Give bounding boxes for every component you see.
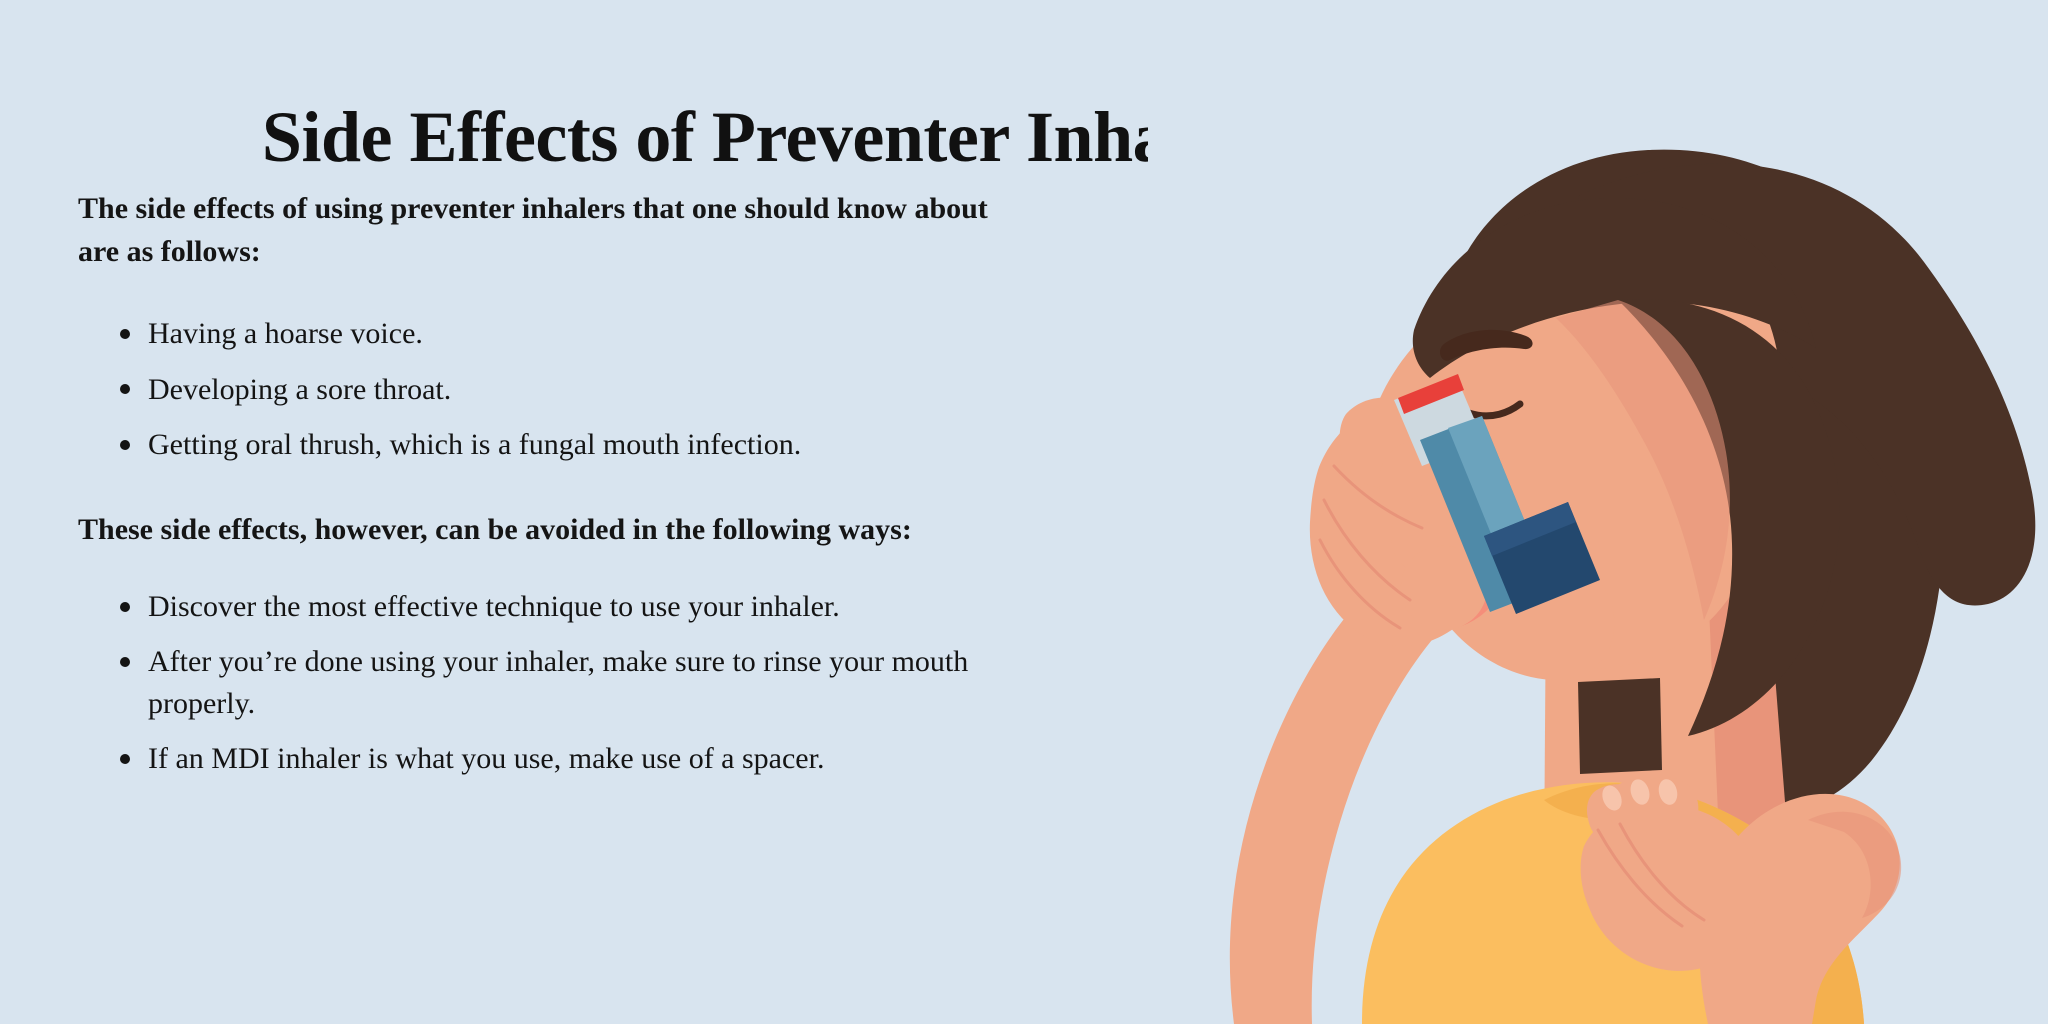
list-item: Having a hoarse voice.: [120, 313, 1048, 354]
list-item: Discover the most effective technique to…: [120, 586, 1048, 627]
inhaler-arm-shape: [1230, 570, 1444, 1024]
throat-hand-finger-1: [1587, 784, 1649, 845]
open-mouth-shape: [1388, 556, 1506, 601]
inhaler-mouthpiece-face: [1484, 502, 1576, 556]
infographic-canvas: Side Effects of Preventer Inhalers The s…: [0, 0, 2048, 1024]
avoidance-list: Discover the most effective technique to…: [78, 586, 1058, 780]
inhaler-mouthpiece-shape: [1484, 502, 1600, 614]
bullet-dot-icon: [120, 384, 130, 394]
inhaler-hand-shape: [1310, 400, 1511, 646]
inhaler-finger-3: [1401, 546, 1487, 630]
list-item: Developing a sore throat.: [120, 369, 1048, 410]
inhaler-body-highlight: [1448, 416, 1552, 600]
neck-front-shape: [1544, 584, 1720, 864]
hair-fringe-shape: [1413, 198, 1816, 378]
upper-lip-shape: [1384, 542, 1506, 562]
shirt-shadow-shape: [1648, 790, 1864, 1024]
eyebrow-shape: [1440, 330, 1533, 361]
inhaler-thumb-shape: [1340, 398, 1430, 488]
face-shape: [1365, 218, 1782, 669]
nose-shape: [1382, 452, 1406, 489]
face-shadow-shape: [1556, 300, 1730, 620]
closed-eye-shape: [1440, 392, 1520, 416]
throat-hand-finger-3: [1635, 777, 1698, 840]
throat-hand-finger-2: [1609, 779, 1672, 842]
throat-arm-shadow: [1808, 812, 1901, 918]
bullet-dot-icon: [120, 440, 130, 450]
shirt-collar-shape: [1544, 783, 1682, 820]
list-item-label: Developing a sore throat.: [148, 373, 451, 406]
neck-shape: [1568, 586, 1788, 856]
throat-arm-shape: [1700, 794, 1900, 1024]
list-item-label: If an MDI inhaler is what you use, make …: [148, 742, 824, 775]
list-item-label: Discover the most effective technique to…: [148, 590, 840, 623]
nostril-shape: [1396, 486, 1424, 497]
hair-sweep-shape: [1578, 164, 2035, 606]
inhaler-red-stripe: [1398, 374, 1464, 414]
list-item-label: Getting oral thrush, which is a fungal m…: [148, 428, 801, 461]
list-item-label: Having a hoarse voice.: [148, 317, 423, 350]
hair-side-shape: [1618, 299, 1840, 736]
jaw-shape: [1387, 507, 1614, 680]
bullet-dot-icon: [120, 657, 130, 667]
page-title: Side Effects of Preventer Inhalers: [0, 100, 1540, 176]
text-column: The side effects of using preventer inha…: [78, 188, 1058, 824]
side-effects-list: Having a hoarse voice. Developing a sore…: [78, 313, 1058, 465]
throat-hand-palm: [1581, 804, 1760, 971]
shirt-shape: [1362, 782, 1864, 1024]
avoidance-heading: These side effects, however, can be avoi…: [78, 509, 1058, 552]
hair-back-shape: [1448, 150, 1945, 817]
bullet-dot-icon: [120, 754, 130, 764]
hair-neck-strand: [1578, 678, 1662, 774]
hand-crease-lines: [1598, 824, 1704, 926]
bullet-dot-icon: [120, 602, 130, 612]
inhaler-hand-crease-lines: [1320, 466, 1422, 628]
lower-lip-shape: [1392, 578, 1504, 630]
fingernail-3: [1656, 777, 1680, 807]
list-item-label: After you’re done using your inhaler, ma…: [148, 645, 968, 719]
lead-paragraph: The side effects of using preventer inha…: [78, 188, 1028, 273]
inhaler-finger-2: [1391, 494, 1477, 578]
fingernail-1: [1599, 783, 1625, 814]
bullet-dot-icon: [120, 329, 130, 339]
inhaler-finger-1: [1379, 440, 1465, 524]
list-item: Getting oral thrush, which is a fungal m…: [120, 424, 1048, 465]
inhaler-body-shape: [1420, 416, 1552, 612]
list-item: If an MDI inhaler is what you use, make …: [120, 738, 1048, 779]
fingernail-2: [1627, 777, 1652, 807]
inhaler-canister-shape: [1394, 376, 1484, 466]
inhaler-device: [1394, 374, 1600, 614]
list-item: After you’re done using your inhaler, ma…: [120, 641, 1048, 724]
